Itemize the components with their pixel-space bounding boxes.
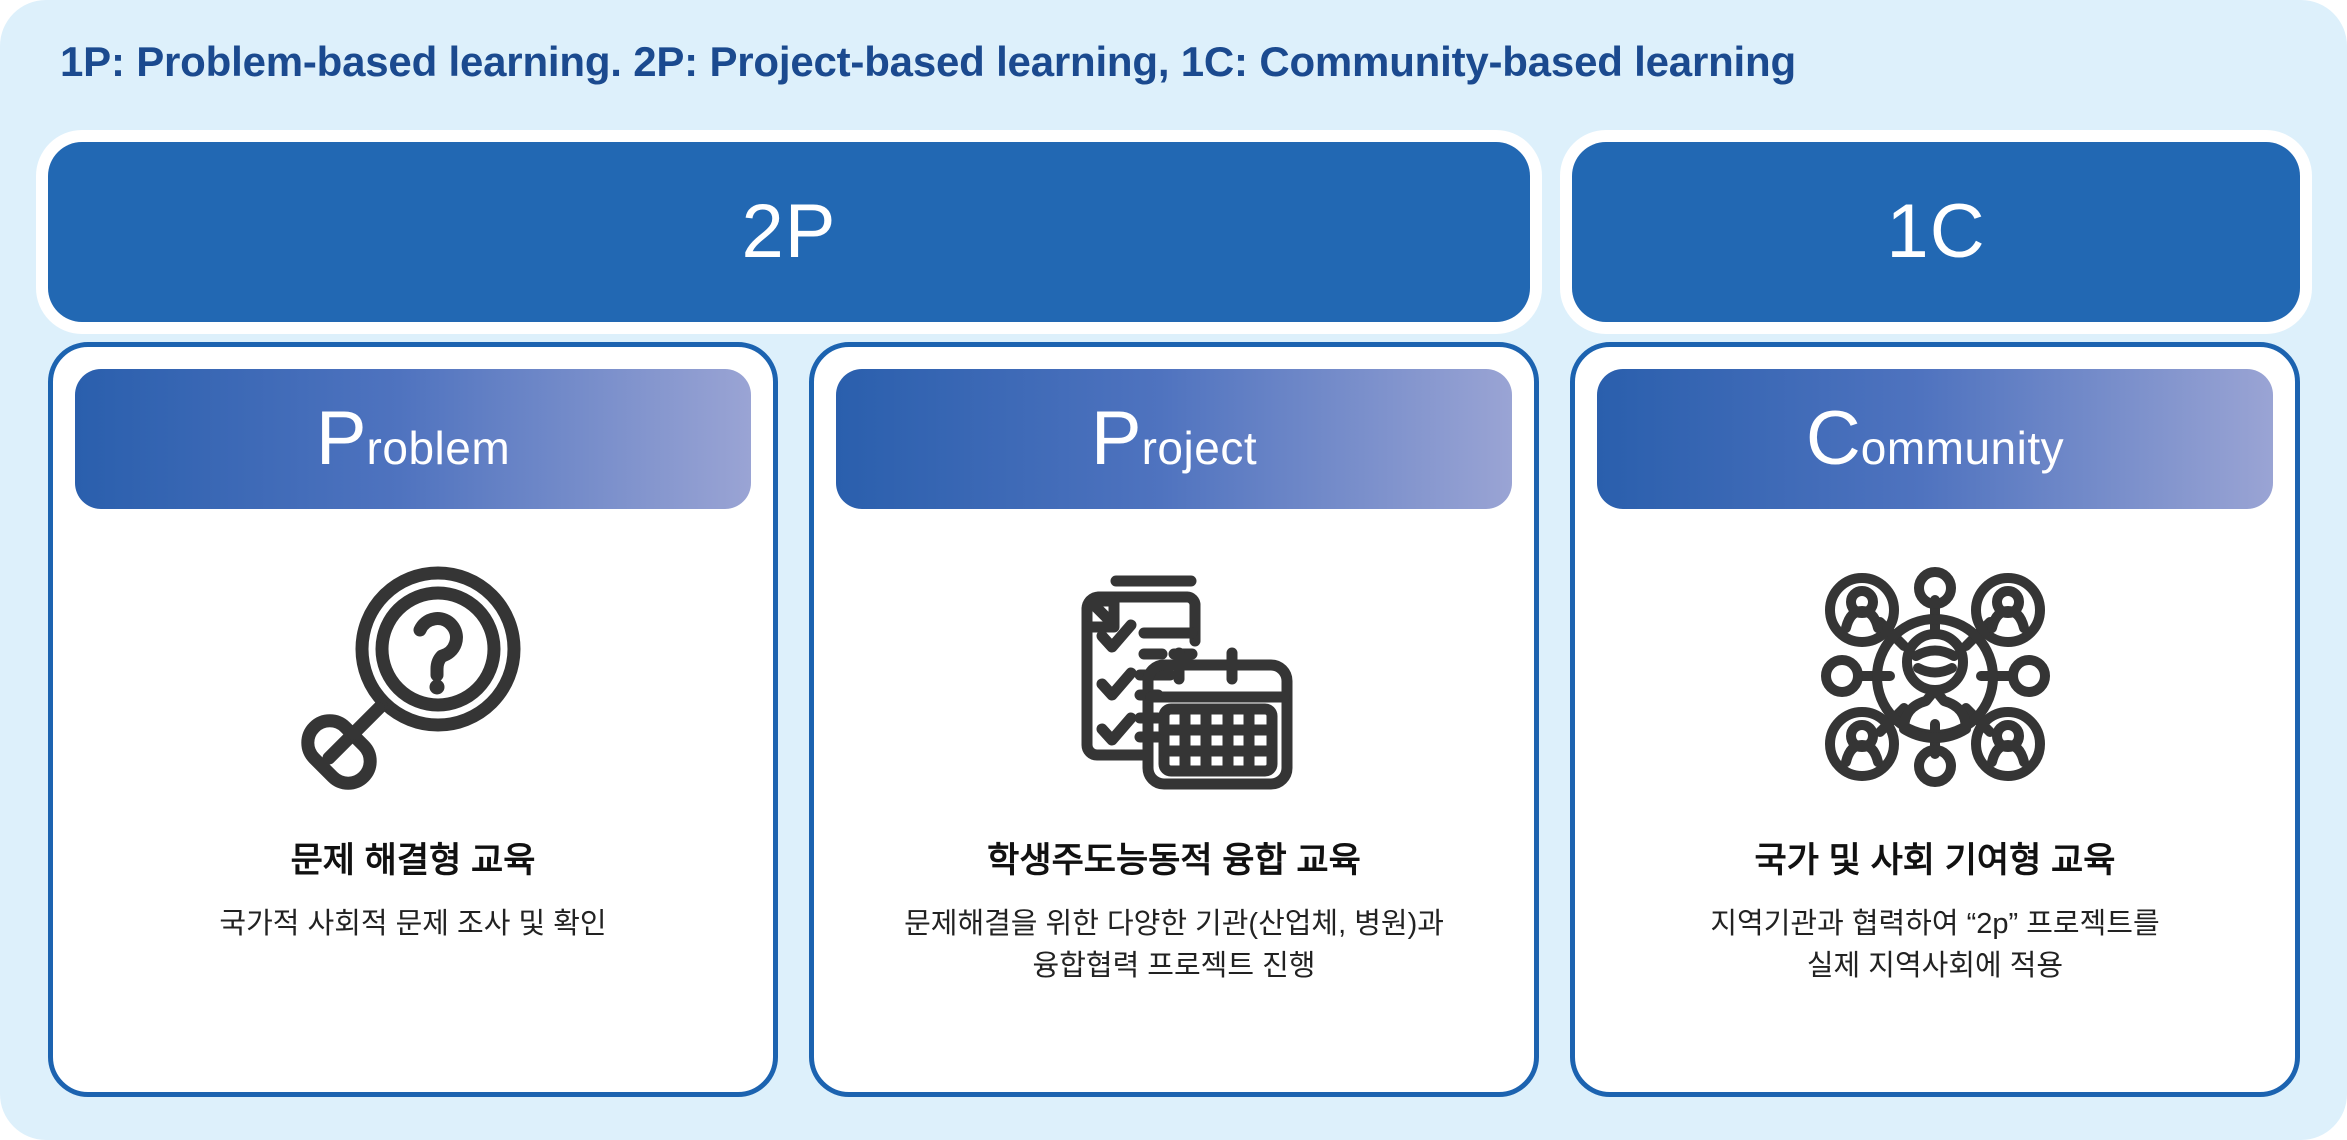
card-problem-header: Problem — [75, 369, 751, 509]
card-community-title: 국가 및 사회 기여형 교육 — [1755, 839, 2116, 883]
card-problem-header-initial: P — [316, 401, 367, 477]
card-community-desc: 지역기관과 협력하여 “2p” 프로젝트를 실제 지역사회에 적용 — [1710, 903, 2159, 987]
magnifier-question-icon — [293, 561, 533, 791]
infographic-canvas: 1P: Problem-based learning. 2P: Project-… — [0, 0, 2347, 1140]
checklist-calendar-icon — [1052, 561, 1297, 791]
card-problem-desc: 국가적 사회적 문제 조사 및 확인 — [219, 903, 606, 945]
banner-1c-label: 1C — [1886, 194, 1985, 270]
card-problem-body: 문제 해결형 교육 국가적 사회적 문제 조사 및 확인 — [75, 791, 751, 1092]
card-problem[interactable]: Problem 문제 해결형 교육 국가적 사회적 문제 조사 및 확인 — [48, 342, 778, 1097]
page-title: 1P: Problem-based learning. 2P: Project-… — [60, 38, 2300, 86]
card-project-title: 학생주도능동적 융합 교육 — [987, 839, 1361, 883]
card-community-header-text: Community — [1806, 401, 2064, 477]
card-problem-header-rest: roblem — [367, 425, 511, 471]
people-network-icon — [1818, 561, 2053, 791]
banner-2p-label: 2P — [742, 194, 837, 270]
banner-2p[interactable]: 2P — [48, 142, 1530, 322]
card-community-header: Community — [1597, 369, 2273, 509]
card-project-header-initial: P — [1091, 401, 1142, 477]
card-community-header-rest: ommunity — [1861, 425, 2064, 471]
card-project-body: 학생주도능동적 융합 교육 문제해결을 위한 다양한 기관(산업체, 병원)과 … — [836, 791, 1512, 1092]
card-project-desc: 문제해결을 위한 다양한 기관(산업체, 병원)과 융합협력 프로젝트 진행 — [904, 903, 1444, 987]
card-project-header-rest: roject — [1142, 425, 1257, 471]
card-project[interactable]: Project — [809, 342, 1539, 1097]
banner-row: 2P 1C — [48, 142, 2300, 322]
card-problem-title: 문제 해결형 교육 — [291, 839, 536, 883]
card-row: Problem 문제 해결형 교육 국가적 사회적 문제 조사 및 확인 — [48, 342, 2300, 1097]
card-community[interactable]: Community — [1570, 342, 2300, 1097]
card-project-header: Project — [836, 369, 1512, 509]
banner-1c[interactable]: 1C — [1572, 142, 2300, 322]
card-community-body: 국가 및 사회 기여형 교육 지역기관과 협력하여 “2p” 프로젝트를 실제 … — [1597, 791, 2273, 1092]
card-problem-header-text: Problem — [316, 401, 510, 477]
card-community-header-initial: C — [1806, 401, 1861, 477]
card-project-header-text: Project — [1091, 401, 1257, 477]
